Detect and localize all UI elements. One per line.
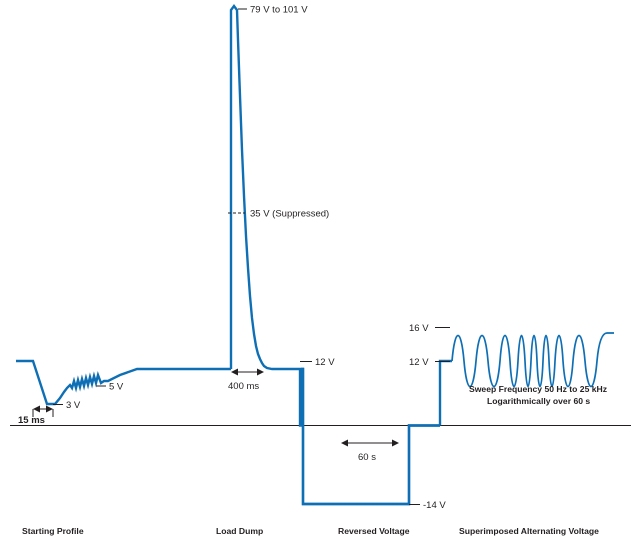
category-label-starting-profile: Starting Profile xyxy=(22,526,84,536)
transient-voltage-diagram: 79 V to 101 V 35 V (Suppressed) 400 ms 1… xyxy=(0,0,641,547)
trace-reversed-voltage-step xyxy=(300,369,440,504)
sixty-s-label: 60 s xyxy=(358,452,376,463)
category-label-superimposed: Superimposed Alternating Voltage xyxy=(459,526,599,536)
sixteen-volt-label: 16 V xyxy=(409,323,429,334)
trace-starting-profile xyxy=(16,361,231,404)
trace-superimposed-base xyxy=(440,361,452,426)
load-dump-duration-arrow xyxy=(231,369,264,376)
category-label-load-dump: Load Dump xyxy=(216,526,263,536)
trace-reversed-voltage xyxy=(300,369,440,504)
load-dump-duration-label: 400 ms xyxy=(228,381,259,392)
category-label-reversed-voltage: Reversed Voltage xyxy=(338,526,410,536)
sweep-frequency-line2: Logarithmically over 60 s xyxy=(487,396,590,406)
minus-fourteen-volt-label: -14 V xyxy=(423,500,446,511)
sweep-frequency-line1: Sweep Frequency 50 Hz to 25 kHz xyxy=(469,384,607,394)
peak-label: 79 V to 101 V xyxy=(250,5,308,16)
sixty-s-arrow xyxy=(341,440,399,447)
twelve-volt-right-label: 12 V xyxy=(409,357,429,368)
suppressed-label: 35 V (Suppressed) xyxy=(250,209,329,220)
three-volt-label: 3 V xyxy=(66,400,81,411)
twelve-volt-label: 12 V xyxy=(315,357,335,368)
five-volt-label: 5 V xyxy=(109,382,124,393)
trace-superimposed-oscillation xyxy=(452,333,614,387)
trace-load-dump xyxy=(231,6,300,369)
fifteen-ms-label: 15 ms xyxy=(18,415,45,426)
